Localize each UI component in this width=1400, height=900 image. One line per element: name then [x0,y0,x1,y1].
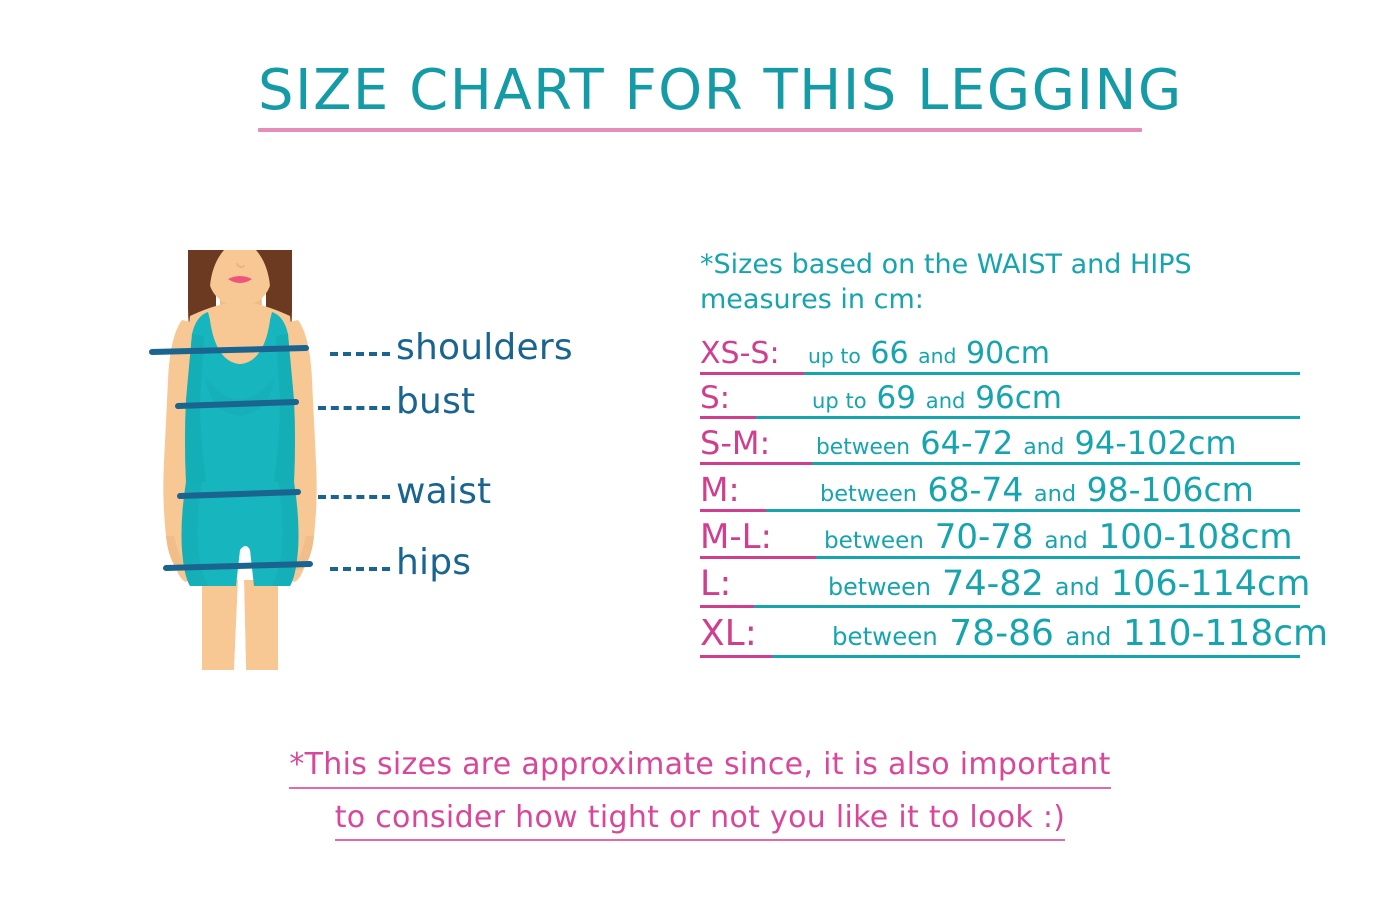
size-row: XL:between 78-86 and 110-118cm [700,616,1300,658]
body-figure-illustration [120,250,420,670]
size-measurements: up to 66 and 90cm [808,339,1050,370]
label-shoulders: shoulders [396,330,573,366]
size-row-rule [700,416,1300,419]
connector-range: up to [812,388,867,413]
size-code: XL: [700,616,832,653]
title-block: SIZE CHART FOR THIS LEGGING [258,62,1142,132]
disclaimer-line-2: to consider how tight or not you like it… [335,801,1066,842]
bust-measure-line [178,402,296,406]
connector-and: and [1055,573,1100,601]
size-code: M: [700,473,820,507]
size-row: S-M:between 64-72 and 94-102cm [700,427,1300,465]
size-rows-container: XS-S:up to 66 and 90cmS:up to 69 and 96c… [700,339,1300,658]
size-code: L: [700,567,828,603]
waist-value: 64-72 [920,424,1013,462]
size-measurements: between 70-78 and 100-108cm [824,520,1293,555]
size-measurements: between 64-72 and 94-102cm [816,427,1237,460]
shoulders-measure-line [152,348,306,352]
hips-value: 90cm [966,336,1050,371]
size-row: M:between 68-74 and 98-106cm [700,473,1300,512]
size-row-rule [700,509,1300,512]
size-row-rule [700,605,1300,608]
hips-value: 106-114cm [1111,564,1311,604]
hips-measure-line [166,564,310,568]
connector-and: and [1023,435,1064,460]
size-code: XS-S: [700,339,808,370]
connector-range: between [832,622,938,651]
connector-range: between [816,435,910,460]
hips-value: 100-108cm [1099,517,1293,557]
hips-leader-line [330,567,390,571]
waist-value: 74-82 [942,564,1044,604]
connector-and: and [918,344,956,368]
female-torso-figure [120,250,420,670]
size-table: *Sizes based on the WAIST and HIPS measu… [700,248,1300,666]
size-row: S:up to 69 and 96cm [700,383,1300,420]
waist-value: 68-74 [928,470,1024,509]
waist-value: 78-86 [949,613,1054,654]
connector-range: between [820,481,917,507]
title-underline [258,128,1142,132]
size-chart-page: SIZE CHART FOR THIS LEGGING [0,0,1400,900]
disclaimer-line-1: *This sizes are approximate since, it is… [289,748,1110,789]
size-measurements: between 78-86 and 110-118cm [832,616,1328,653]
size-row-rule [700,372,1300,375]
connector-and: and [1065,622,1111,651]
hips-value: 98-106cm [1087,470,1254,509]
waist-measure-line [180,492,298,496]
size-row-rule [700,556,1300,559]
waist-value: 66 [870,336,908,371]
size-measurements: up to 69 and 96cm [812,383,1062,415]
connector-range: up to [808,344,861,368]
size-row: L:between 74-82 and 106-114cm [700,567,1300,608]
waist-value: 70-78 [935,517,1034,557]
connector-range: between [828,573,931,601]
size-row: M-L:between 70-78 and 100-108cm [700,520,1300,560]
size-row-rule [700,462,1300,465]
size-row: XS-S:up to 66 and 90cm [700,339,1300,375]
hips-value: 94-102cm [1074,424,1236,462]
page-title: SIZE CHART FOR THIS LEGGING [258,62,1142,121]
sizes-intro-text: *Sizes based on the WAIST and HIPS measu… [700,248,1230,317]
label-waist: waist [396,474,491,510]
size-measurements: between 74-82 and 106-114cm [828,567,1310,603]
size-code: M-L: [700,520,824,555]
connector-and: and [1044,528,1087,554]
disclaimer-block: *This sizes are approximate since, it is… [0,748,1400,853]
size-row-rule [700,655,1300,658]
label-hips: hips [396,545,471,581]
size-measurements: between 68-74 and 98-106cm [820,473,1254,507]
shoulders-leader-line [330,352,390,356]
label-bust: bust [396,384,475,420]
hips-value: 96cm [975,380,1062,416]
size-code: S-M: [700,427,816,460]
waist-leader-line [318,495,390,499]
bust-leader-line [318,406,390,410]
waist-value: 69 [876,380,915,416]
connector-and: and [926,388,966,413]
connector-range: between [824,528,924,554]
size-code: S: [700,383,812,415]
hips-value: 110-118cm [1123,613,1328,654]
connector-and: and [1034,481,1076,507]
